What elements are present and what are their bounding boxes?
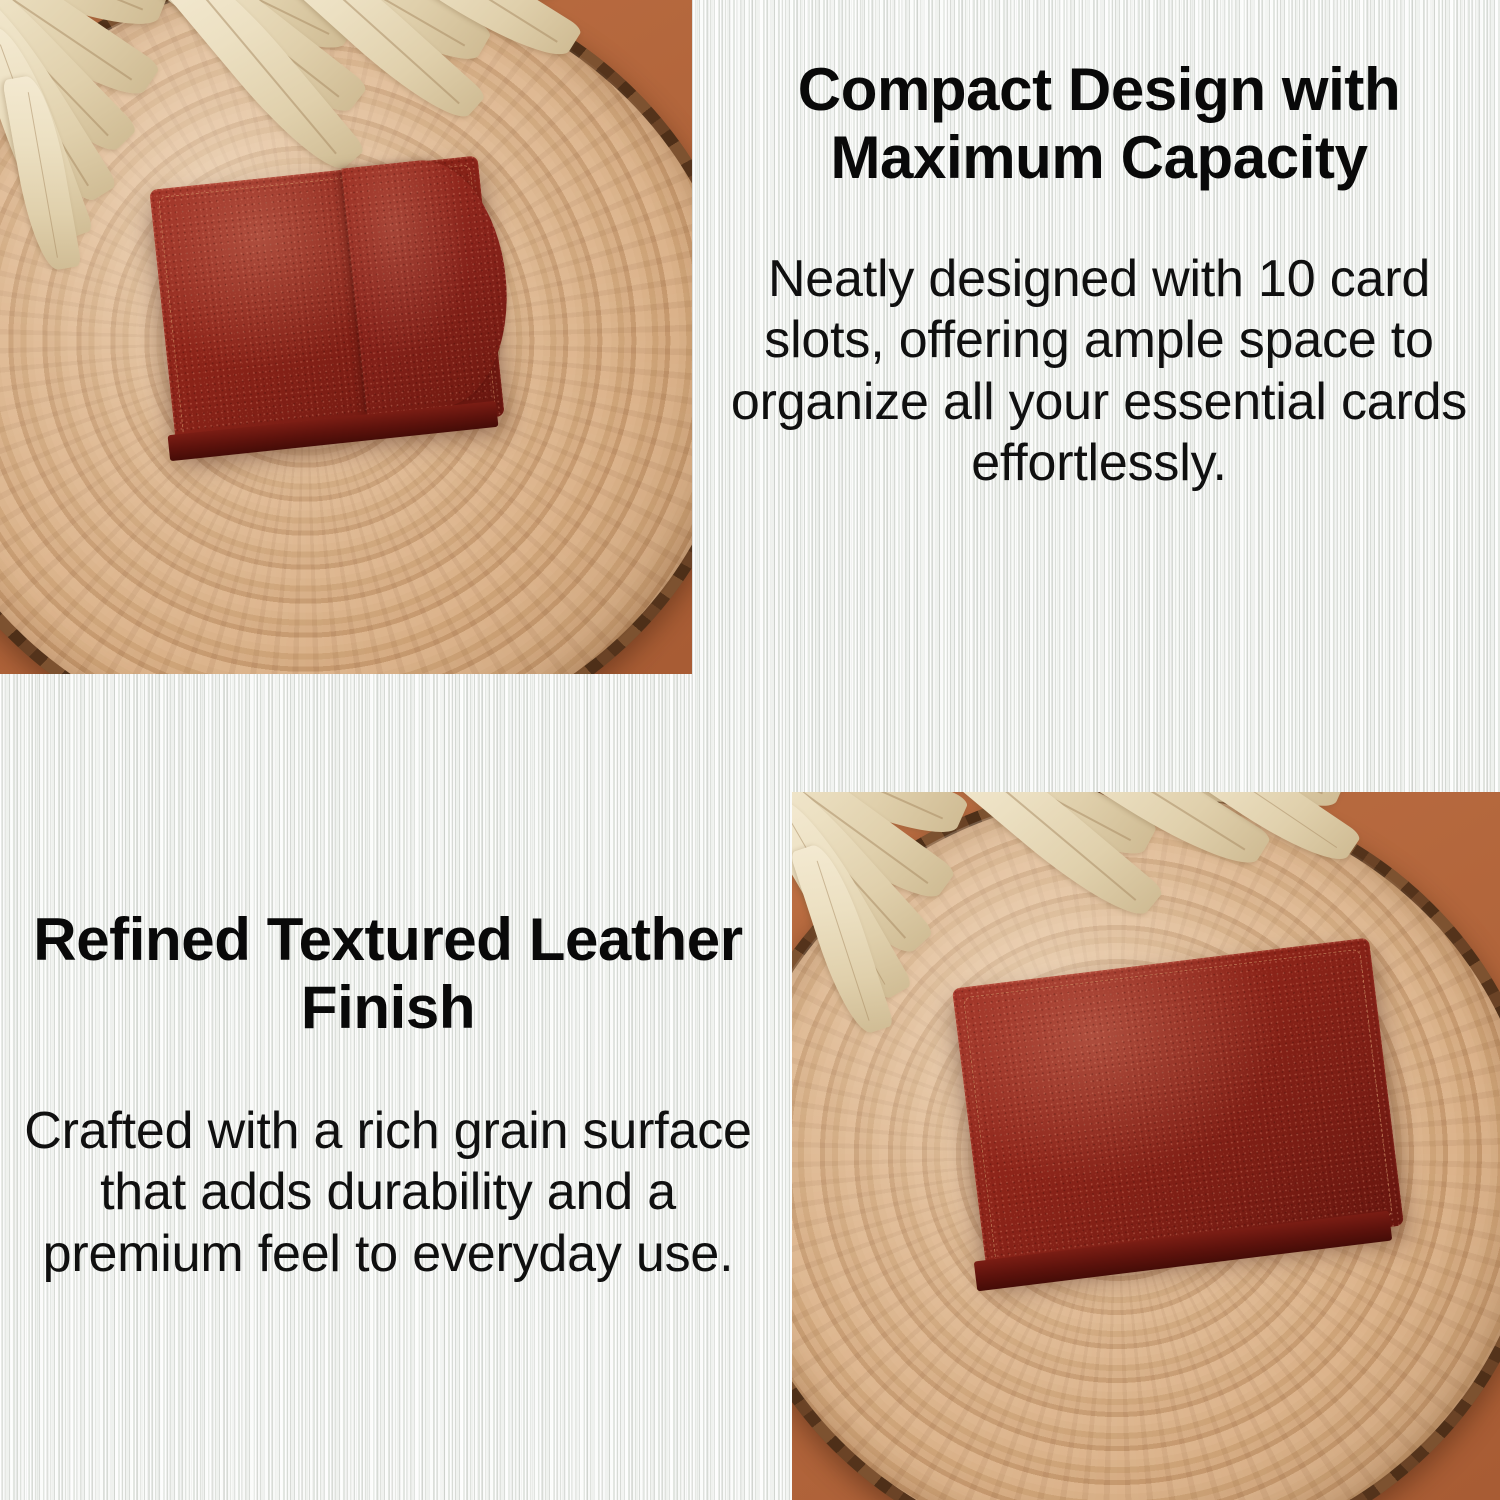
- feature-text-textured-leather: Refined Textured Leather Finish Crafted …: [16, 906, 760, 1285]
- feature-heading-compact-design: Compact Design with Maximum Capacity: [706, 56, 1492, 193]
- product-photo-bottom-right: [792, 792, 1500, 1500]
- product-photo-top-left: [0, 0, 692, 674]
- infographic-canvas: Compact Design with Maximum Capacity Nea…: [0, 0, 1500, 1500]
- feature-body-textured-leather: Crafted with a rich grain surface that a…: [16, 1101, 760, 1285]
- feature-heading-textured-leather: Refined Textured Leather Finish: [16, 906, 760, 1043]
- feature-text-compact-design: Compact Design with Maximum Capacity Nea…: [706, 56, 1492, 494]
- feature-body-compact-design: Neatly designed with 10 card slots, offe…: [706, 249, 1492, 494]
